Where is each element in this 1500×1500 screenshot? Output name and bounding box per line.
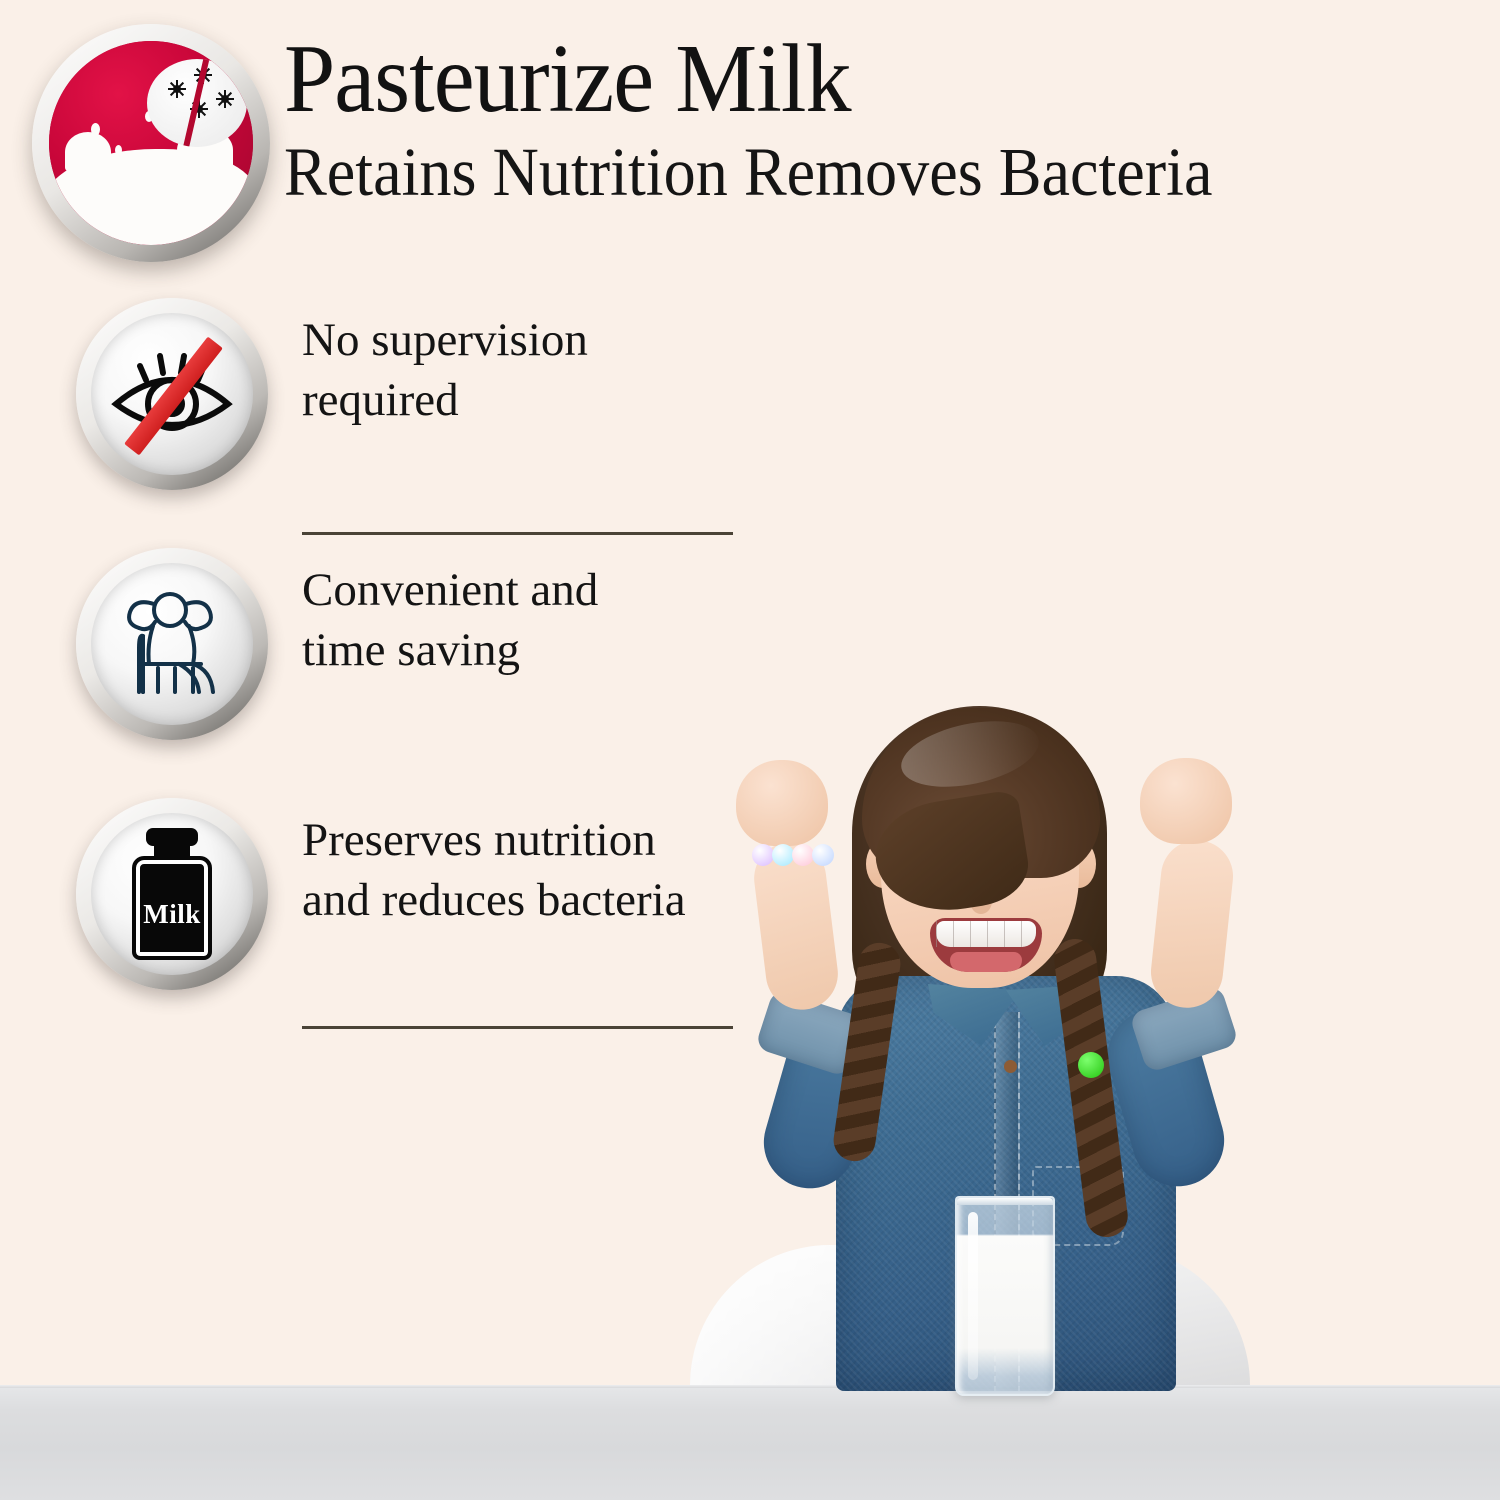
- badge-face: Milk: [91, 813, 253, 975]
- teeth: [936, 921, 1036, 947]
- page-title: Pasteurize Milk: [284, 30, 1393, 130]
- feature-label-convenient: Convenient and time saving: [302, 560, 822, 680]
- table-surface: [0, 1385, 1500, 1500]
- header: Pasteurize Milk Retains Nutrition Remove…: [0, 0, 1500, 260]
- feature-line-1: Convenient and: [302, 560, 822, 620]
- page-subtitle: Retains Nutrition Removes Bacteria: [284, 136, 1381, 208]
- feature-divider: [302, 532, 733, 535]
- poster-canvas: Pasteurize Milk Retains Nutrition Remove…: [0, 0, 1500, 1500]
- feature-label-no-supervision: No supervision required: [302, 310, 822, 430]
- badge-face: [91, 563, 253, 725]
- feature-list: No supervision required: [0, 292, 820, 1042]
- logo-inner: [49, 41, 253, 245]
- bacteria-icon: [169, 81, 185, 97]
- glass-rim: [957, 1198, 1053, 1205]
- no-supervision-eye-icon: [76, 298, 268, 490]
- beaded-bracelet-icon: [752, 842, 836, 872]
- forearm-right: [1147, 837, 1236, 1012]
- badge-face: [91, 313, 253, 475]
- eye-glyph: [106, 342, 238, 446]
- milk-bottle-glyph: Milk: [126, 828, 218, 960]
- feature-item-convenient: Convenient and time saving: [0, 542, 820, 792]
- milk-bottle-icon: Milk: [76, 798, 268, 990]
- fist-left: [736, 760, 828, 846]
- glass-of-milk: [955, 1196, 1055, 1396]
- milk-splash-icon: [49, 149, 253, 245]
- title-block: Pasteurize Milk Retains Nutrition Remove…: [284, 30, 1464, 208]
- feature-item-preserves-nutrition: Milk Preserves nutrition and reduces bac…: [0, 792, 820, 1042]
- feature-line-2: time saving: [302, 620, 822, 680]
- feature-line-1: No supervision: [302, 310, 822, 370]
- person-relaxing-in-chair-icon: [76, 548, 268, 740]
- green-hair-tie-icon: [1078, 1052, 1104, 1078]
- relaxing-person-svg: [113, 588, 231, 700]
- shirt-button: [1004, 1060, 1017, 1073]
- smiling-mouth: [930, 918, 1042, 972]
- tongue: [950, 952, 1022, 972]
- fist-right: [1140, 758, 1232, 844]
- bacteria-lens: [147, 59, 247, 147]
- bottle-label-text: Milk: [126, 899, 218, 930]
- table-edge: [0, 1385, 1500, 1388]
- feature-line-2: required: [302, 370, 822, 430]
- milk-bacteria-badge-icon: [32, 24, 270, 262]
- feature-item-no-supervision: No supervision required: [0, 292, 820, 542]
- glass-highlight: [968, 1212, 978, 1380]
- bacteria-icon: [217, 91, 233, 107]
